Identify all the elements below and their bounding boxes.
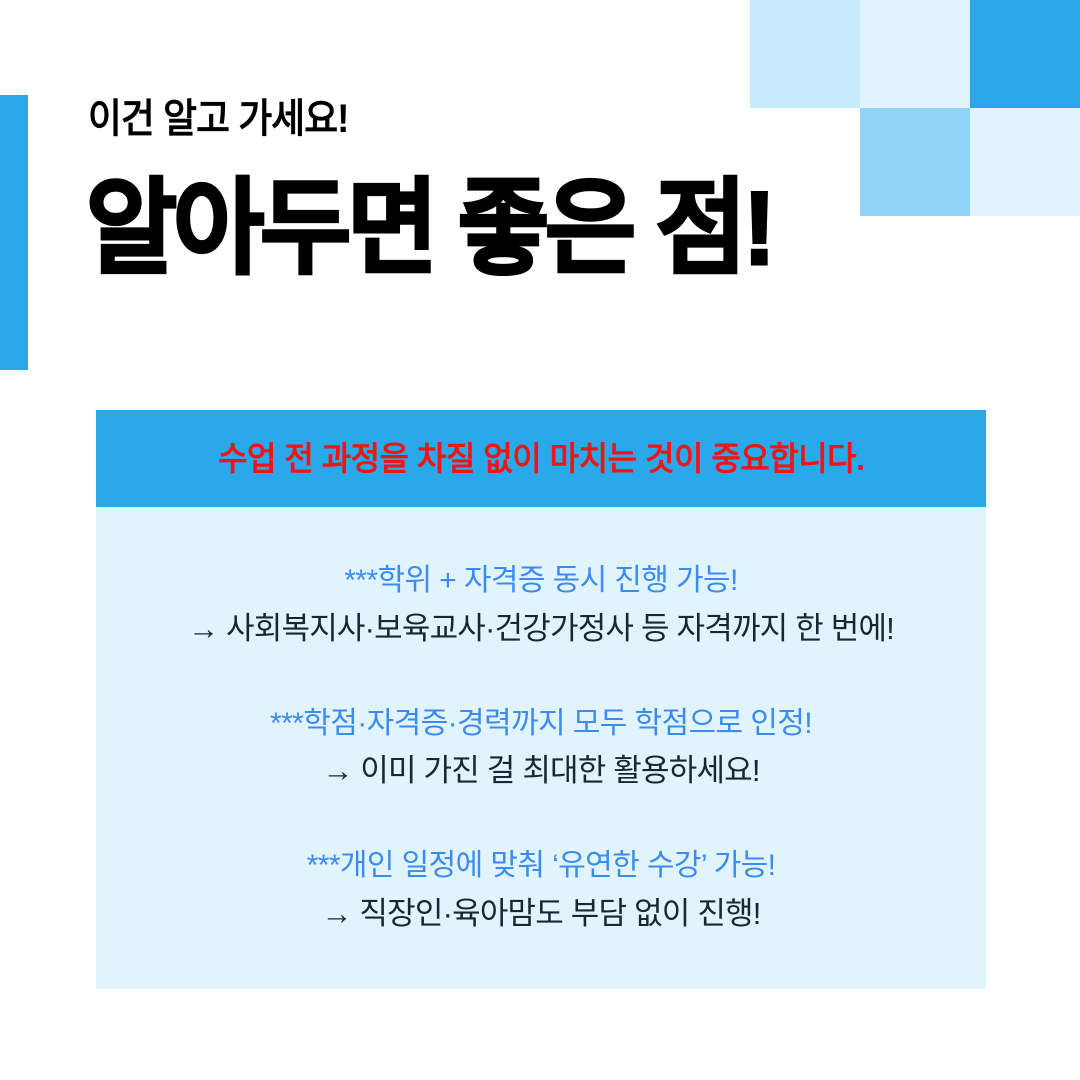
deco-square-top-right [970,0,1080,108]
benefit-title: ***학점·자격증·경력까지 모두 학점으로 인정! [270,703,812,746]
benefit-item: ***학점·자격증·경력까지 모두 학점으로 인정! → 이미 가진 걸 최대한… [250,703,832,794]
benefit-title: ***학위 + 자격증 동시 진행 가능! [188,560,894,603]
left-accent-bar [0,95,28,370]
deco-square-bottom-middle [860,108,970,216]
benefit-detail: → 이미 가진 걸 최대한 활용하세요! [270,749,812,793]
poster-canvas: 이건 알고 가세요! 알아두면 좋은 점! 수업 전 과정을 차질 없이 마치는… [0,0,1080,1080]
deco-square-top-left [750,0,860,108]
benefit-item: ***학위 + 자격증 동시 진행 가능! → 사회복지사·보육교사·건강가정사… [168,560,914,651]
benefit-detail: → 직장인·육아맘도 부담 없이 진행! [307,892,776,936]
benefit-detail: → 사회복지사·보육교사·건강가정사 등 자격까지 한 번에! [188,607,894,651]
deco-square-bottom-right [970,108,1080,216]
card-banner-text: 수업 전 과정을 차질 없이 마치는 것이 중요합니다. [218,439,865,479]
benefits-card: 수업 전 과정을 차질 없이 마치는 것이 중요합니다. ***학위 + 자격증… [96,410,986,989]
card-banner: 수업 전 과정을 차질 없이 마치는 것이 중요합니다. [96,410,986,507]
card-body: ***학위 + 자격증 동시 진행 가능! → 사회복지사·보육교사·건강가정사… [96,507,986,989]
decorative-square-mosaic [750,0,1080,216]
deco-square-top-middle [860,0,970,108]
benefit-title: ***개인 일정에 맞춰 ‘유연한 수강’ 가능! [307,845,776,888]
eyebrow-text: 이건 알고 가세요! [88,96,349,142]
benefit-item: ***개인 일정에 맞춰 ‘유연한 수강’ 가능! → 직장인·육아맘도 부담 … [287,845,796,936]
page-title: 알아두면 좋은 점! [86,168,772,291]
